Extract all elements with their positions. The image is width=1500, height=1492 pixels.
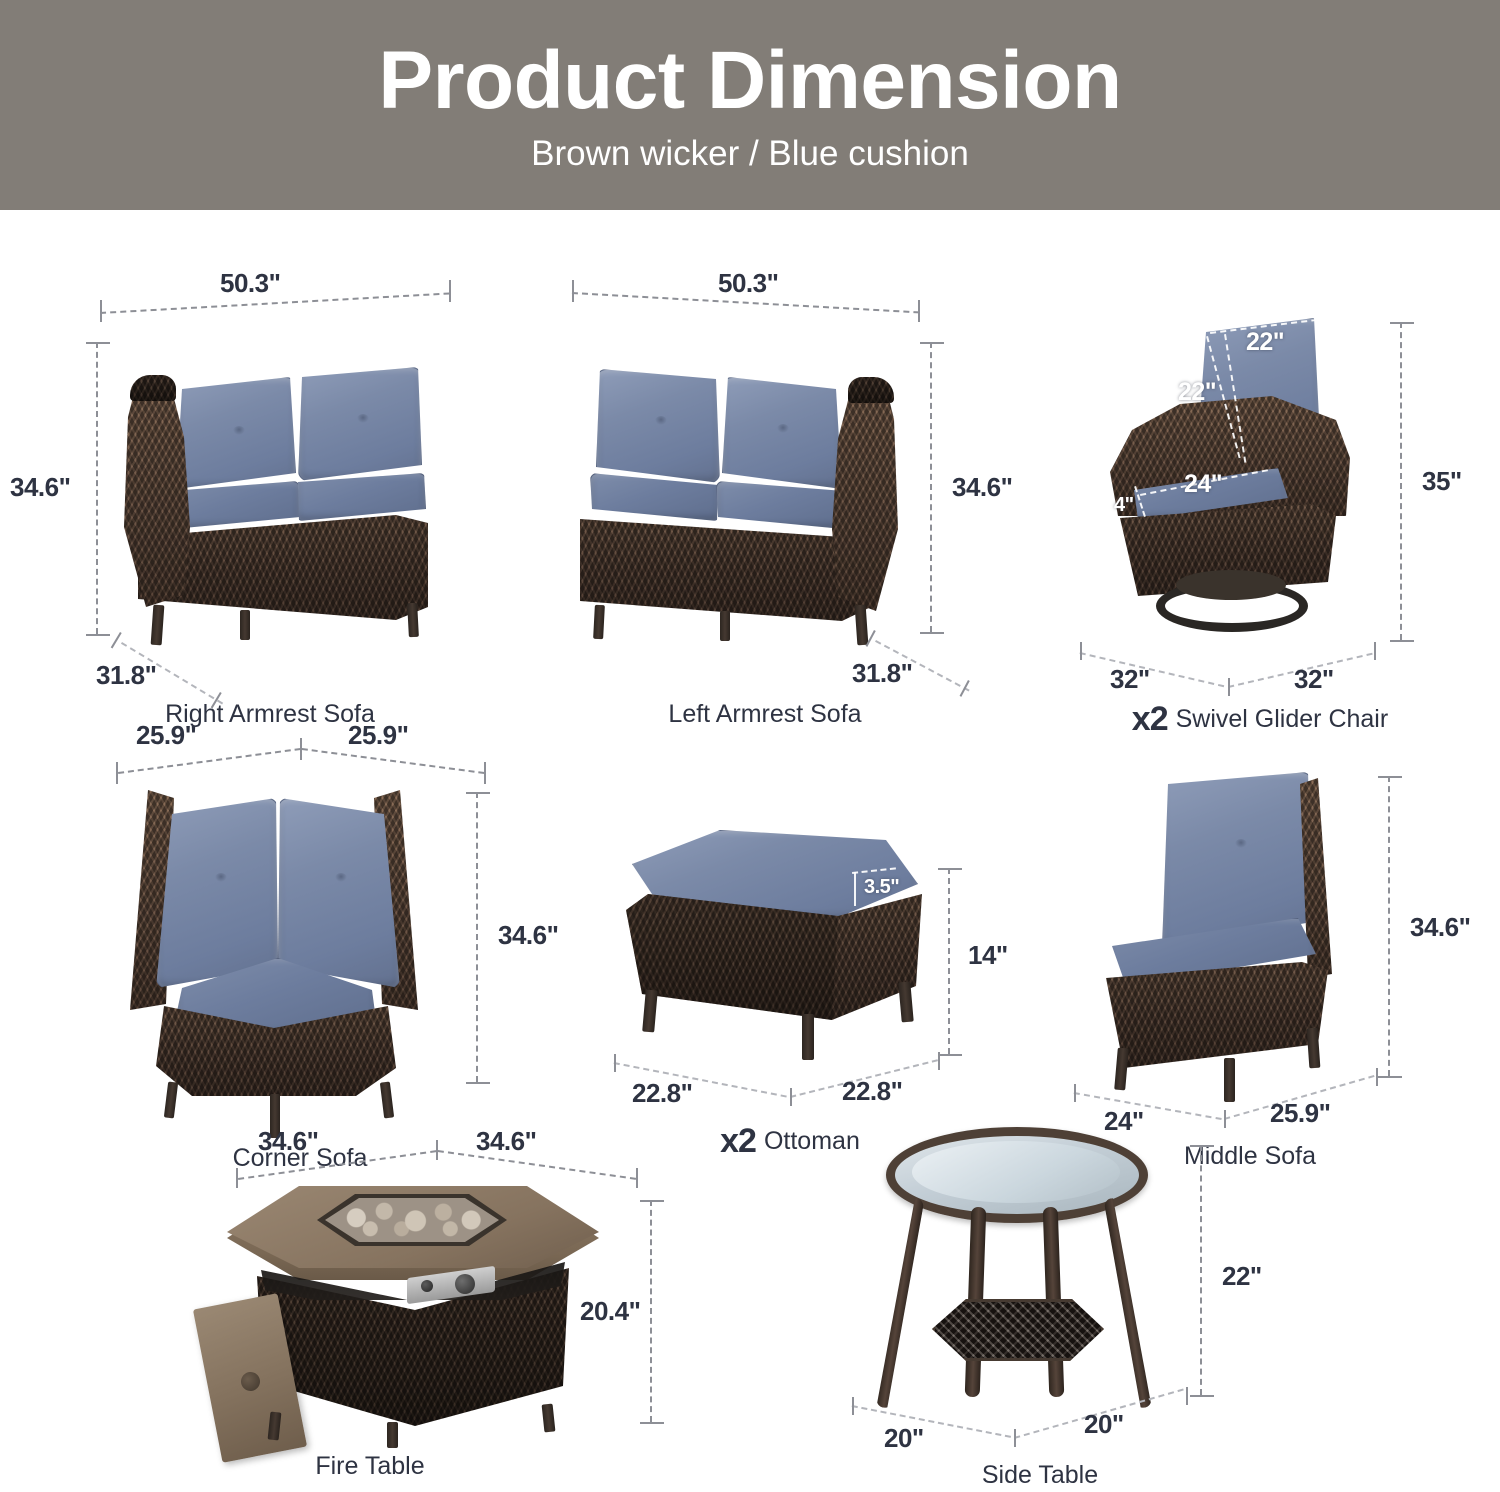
product-label: Left Armrest Sofa: [668, 700, 861, 728]
dimension-label-width: 34.6": [258, 1126, 318, 1157]
dimension-tick: [614, 1054, 616, 1072]
product-label: Swivel Glider Chair: [1176, 705, 1389, 733]
dimension-tick: [1190, 1145, 1214, 1147]
dimension-label-height: 34.6": [10, 472, 70, 503]
dimension-label-depth: 25.9": [1270, 1098, 1330, 1129]
dimension-tick: [236, 1168, 238, 1188]
dimension-tick: [572, 280, 574, 302]
dimension-tick: [920, 342, 944, 344]
dimension-label-depth: 31.8": [96, 660, 156, 691]
dimension-tick: [1378, 1076, 1402, 1078]
dimension-tick: [466, 792, 490, 794]
dimension-tick: [1374, 642, 1376, 660]
dimension-line-height: [1200, 1145, 1202, 1395]
dimension-label-cushion-thickness: 3.5": [864, 876, 899, 899]
dimension-tick: [852, 1397, 854, 1415]
swivel-glider-chair-illustration: 22" 22" 24" 4": [1100, 318, 1390, 648]
product-caption-left-armrest-sofa: Left Armrest Sofa: [540, 700, 990, 729]
dimension-tick: [790, 1088, 792, 1106]
dimension-tick: [938, 868, 962, 870]
dimension-tick: [300, 738, 302, 760]
product-card-fire-table: 34.6" 34.6" 20.4" Fire Table: [180, 1120, 680, 1490]
dimension-line-height: [1388, 776, 1390, 1076]
dimension-label-seat-depth: 24": [1184, 470, 1222, 499]
dimension-tick: [1378, 776, 1402, 778]
dimension-tick: [1190, 1395, 1214, 1397]
header-banner: Product Dimension Brown wicker / Blue cu…: [0, 0, 1500, 210]
dimension-label-back-width: 22": [1246, 328, 1284, 357]
dimension-label-side-a: 25.9": [136, 720, 196, 751]
ottoman-illustration: 3.5": [620, 830, 930, 1050]
dimension-label-height: 35": [1422, 466, 1462, 497]
dimension-tick: [484, 762, 486, 784]
dimension-line-height: [476, 792, 478, 1082]
dimension-tick: [86, 634, 110, 636]
dimension-tick: [640, 1200, 664, 1202]
dimension-tick: [1014, 1429, 1016, 1447]
middle-sofa-illustration: [1102, 772, 1392, 1092]
dimension-tick: [636, 1168, 638, 1188]
product-card-right-armrest-sofa: 50.3" 34.6" 31.8" Right Armrest Sofa: [60, 260, 480, 730]
dimension-label-depth: 32": [1294, 664, 1334, 695]
dimension-line-side-b: [302, 748, 485, 774]
dimension-label-height: 34.6": [952, 472, 1012, 503]
dimension-tick: [466, 1082, 490, 1084]
dimension-tick: [640, 1422, 664, 1424]
dimension-label-width: 50.3": [718, 268, 778, 299]
product-label: Side Table: [982, 1461, 1098, 1489]
dimension-label-height: 20.4": [580, 1296, 640, 1327]
dimension-label-height: 34.6": [498, 920, 558, 951]
dimension-tick: [1376, 1068, 1378, 1086]
product-dimension-board: 50.3" 34.6" 31.8" Right Armrest Sofa: [0, 210, 1500, 1492]
page-subtitle: Brown wicker / Blue cushion: [531, 136, 969, 171]
dimension-line-height: [650, 1200, 652, 1422]
product-card-swivel-glider-chair: 22" 22" 24" 4" 35" 32" 32" x2Swivel Glid…: [1050, 260, 1470, 730]
dimension-tick: [1080, 642, 1082, 660]
dimension-label-height: 22": [1222, 1261, 1262, 1292]
dimension-label-back-height: 22": [1178, 378, 1216, 407]
product-quantity: x2: [720, 1122, 756, 1160]
dimension-label-width: 22.8": [632, 1078, 692, 1109]
dimension-tick: [918, 300, 920, 322]
dimension-tick: [1186, 1387, 1188, 1405]
dimension-line-height: [1400, 322, 1402, 640]
dimension-label-seat-thickness: 4": [1114, 494, 1134, 517]
dimension-tick: [920, 632, 944, 634]
dimension-tick: [436, 1140, 438, 1160]
dimension-tick: [116, 762, 118, 784]
dimension-label-depth: 20": [1084, 1409, 1124, 1440]
dimension-tick: [1390, 640, 1414, 642]
dimension-label-depth: 34.6": [476, 1126, 536, 1157]
dimension-line-height: [96, 342, 98, 634]
dimension-label-side-b: 25.9": [348, 720, 408, 751]
corner-sofa-illustration: [120, 782, 440, 1102]
dimension-tick: [938, 1054, 962, 1056]
product-caption-fire-table: Fire Table: [120, 1452, 620, 1481]
product-card-corner-sofa: 25.9" 25.9" 34.6" Corner Sofa: [80, 720, 520, 1180]
dimension-tick: [449, 280, 451, 302]
dimension-label-height: 34.6": [1410, 912, 1470, 943]
dimension-label-width: 32": [1110, 664, 1150, 695]
dimension-label-depth: 22.8": [842, 1076, 902, 1107]
dimension-tick: [100, 300, 102, 322]
dimension-label-width: 50.3": [220, 268, 280, 299]
dimension-label-depth: 31.8": [852, 658, 912, 689]
product-card-side-table: 22" 20" 20" Side Table: [830, 1105, 1270, 1490]
dimension-tick: [1074, 1084, 1076, 1102]
dimension-tick: [1228, 678, 1230, 696]
side-table-illustration: [870, 1123, 1170, 1423]
product-label: Fire Table: [315, 1452, 424, 1480]
dimension-tick: [86, 342, 110, 344]
dimension-line-side-a: [118, 748, 301, 774]
left-armrest-sofa-illustration: [570, 355, 910, 645]
dimension-tick: [1390, 322, 1414, 324]
product-card-left-armrest-sofa: 50.3" 34.6" 31.8" Left Armrest Sofa: [540, 260, 990, 730]
fire-table-illustration: [225, 1168, 600, 1438]
dimension-tick: [938, 1052, 940, 1070]
page-title: Product Dimension: [378, 40, 1121, 122]
dimension-label-width: 20": [884, 1423, 924, 1454]
right-armrest-sofa-illustration: [108, 355, 438, 645]
product-caption-side-table: Side Table: [820, 1461, 1260, 1490]
dimension-label-height: 14": [968, 940, 1008, 971]
dimension-line-width: [1080, 652, 1225, 687]
dimension-line-height: [930, 342, 932, 632]
dimension-line-height: [948, 868, 950, 1054]
